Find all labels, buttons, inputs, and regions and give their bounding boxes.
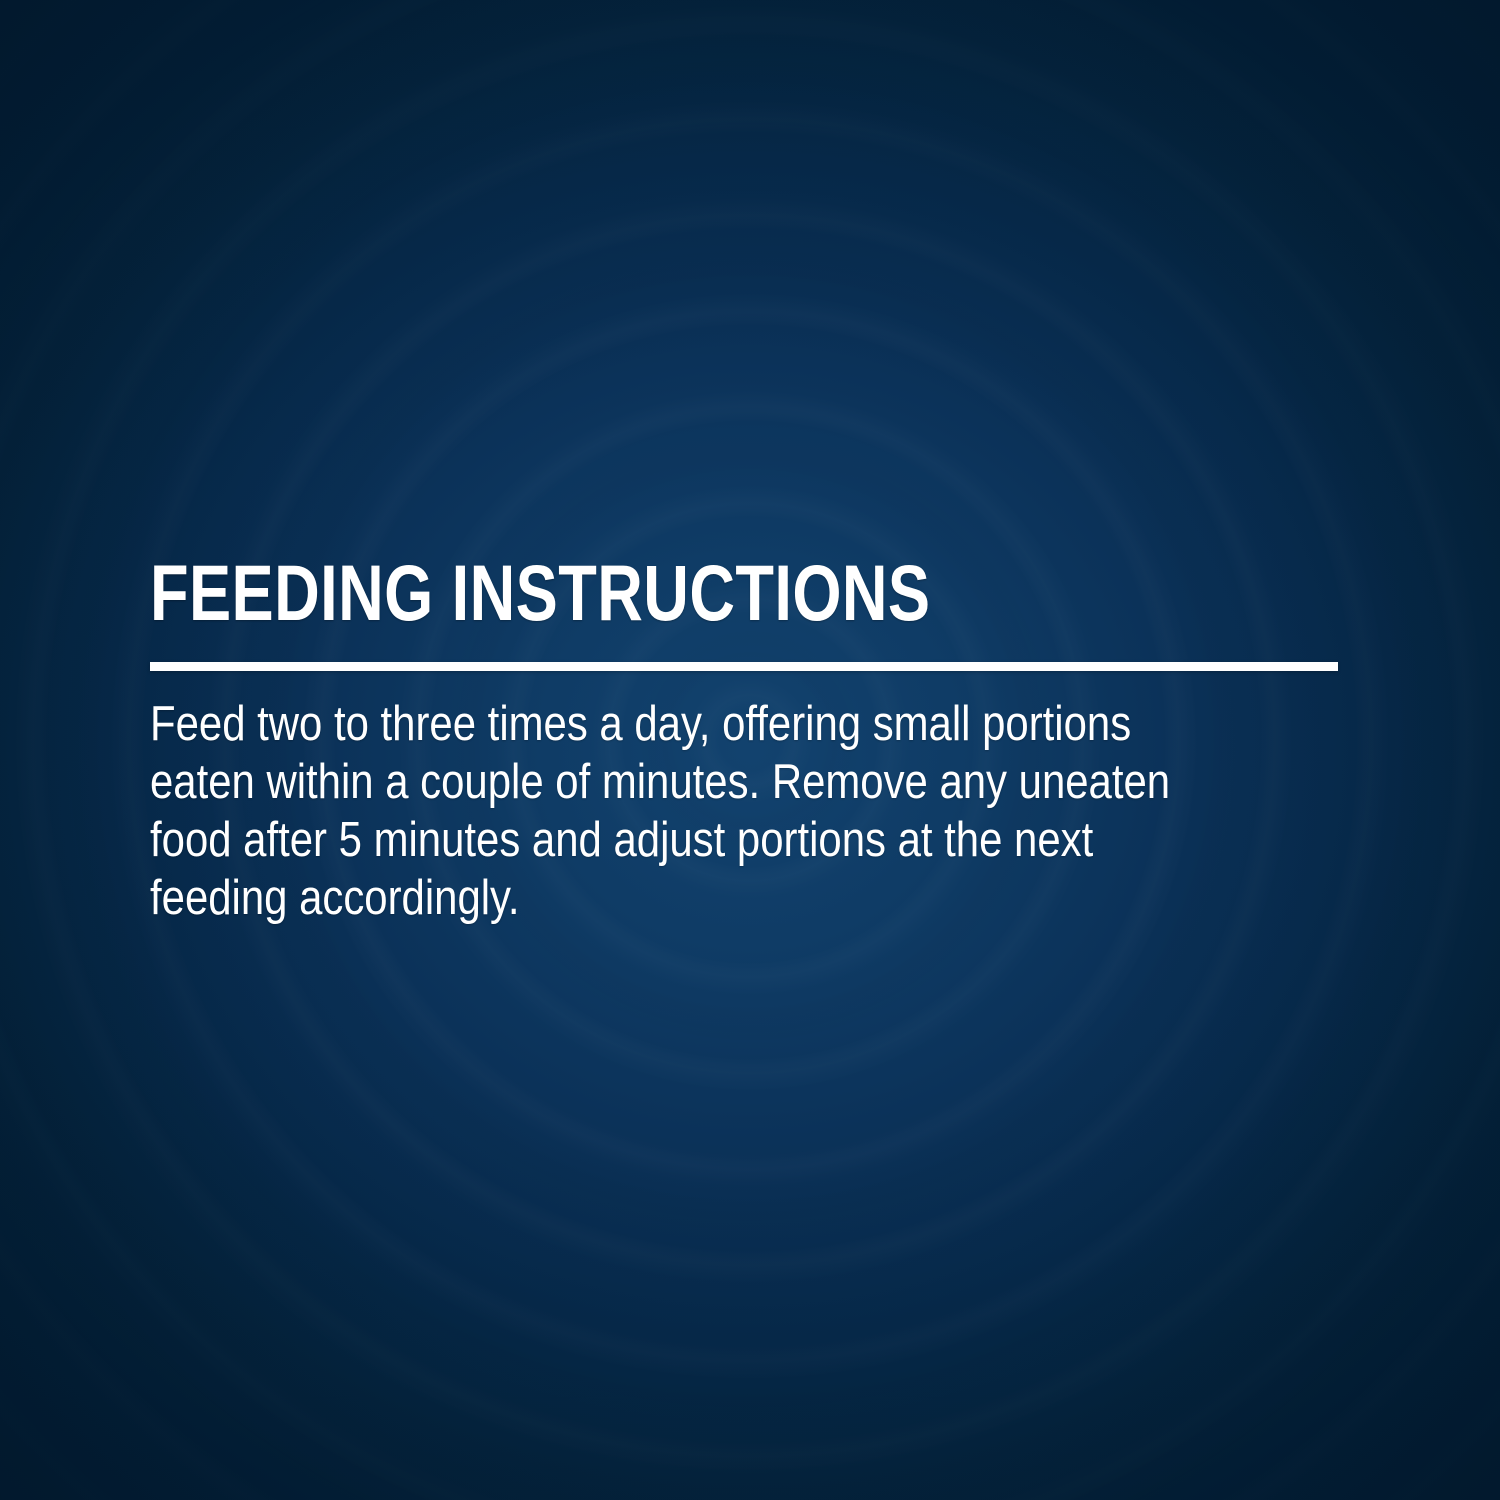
instructions-text: Feed two to three times a day, offering … <box>150 695 1172 927</box>
page-title: FEEDING INSTRUCTIONS <box>150 552 1102 634</box>
title-divider <box>150 662 1338 671</box>
content-block: FEEDING INSTRUCTIONS Feed two to three t… <box>150 552 1340 927</box>
product-info-panel: FEEDING INSTRUCTIONS Feed two to three t… <box>0 0 1500 1500</box>
